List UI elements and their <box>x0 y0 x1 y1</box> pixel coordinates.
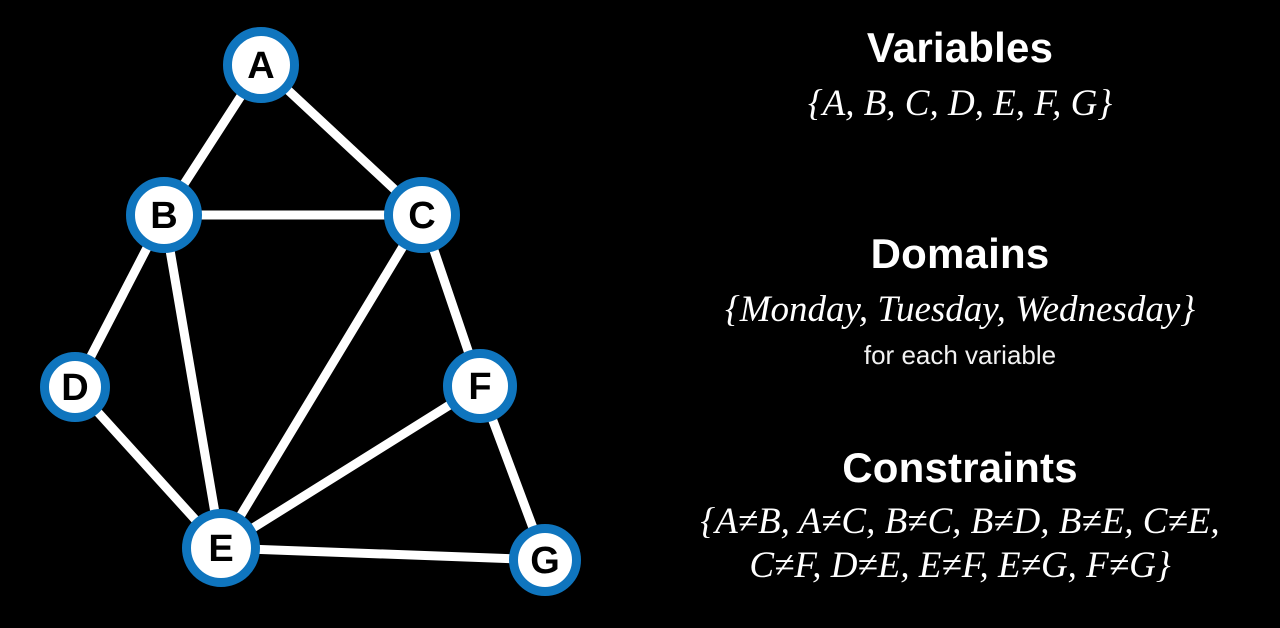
domains-note: for each variable <box>640 340 1280 371</box>
constraint-graph-panel: ABCDEFG <box>0 0 640 628</box>
node-label-d: D <box>61 367 88 409</box>
node-label-c: C <box>408 195 435 237</box>
node-label-a: A <box>247 45 274 87</box>
graph-node-d[interactable]: D <box>45 357 106 418</box>
slide-root: ABCDEFG Variables {A, B, C, D, E, F, G} … <box>0 0 1280 628</box>
definition-panel: Variables {A, B, C, D, E, F, G} Domains … <box>640 0 1280 628</box>
variables-set: {A, B, C, D, E, F, G} <box>640 82 1280 126</box>
graph-edge-e-f <box>221 386 480 548</box>
constraints-heading: Constraints <box>640 446 1280 490</box>
domains-heading: Domains <box>640 232 1280 276</box>
graph-node-e[interactable]: E <box>187 514 256 583</box>
graph-edge-e-g <box>221 548 545 560</box>
constraints-set: {A≠B, A≠C, B≠C, B≠D, B≠E, C≠E, C≠F, D≠E,… <box>640 500 1280 587</box>
domains-block: Domains {Monday, Tuesday, Wednesday} for… <box>640 232 1280 371</box>
node-label-f: F <box>468 366 491 408</box>
edge-layer <box>75 65 545 560</box>
constraint-graph: ABCDEFG <box>0 0 640 628</box>
graph-node-c[interactable]: C <box>389 182 456 249</box>
node-label-e: E <box>208 528 233 570</box>
constraints-block: Constraints {A≠B, A≠C, B≠C, B≠D, B≠E, C≠… <box>640 446 1280 587</box>
graph-node-g[interactable]: G <box>514 529 577 592</box>
graph-edge-c-e <box>221 215 422 548</box>
constraints-set-line-2: C≠F, D≠E, E≠F, E≠G, F≠G} <box>648 544 1272 588</box>
graph-node-a[interactable]: A <box>228 32 295 99</box>
variables-heading: Variables <box>640 26 1280 70</box>
graph-node-f[interactable]: F <box>448 354 513 419</box>
node-label-b: B <box>150 195 177 237</box>
constraints-set-line-1: {A≠B, A≠C, B≠C, B≠D, B≠E, C≠E, <box>648 500 1272 544</box>
variables-block: Variables {A, B, C, D, E, F, G} <box>640 26 1280 126</box>
domains-set: {Monday, Tuesday, Wednesday} <box>640 288 1280 332</box>
node-label-g: G <box>530 540 560 582</box>
graph-node-b[interactable]: B <box>131 182 198 249</box>
